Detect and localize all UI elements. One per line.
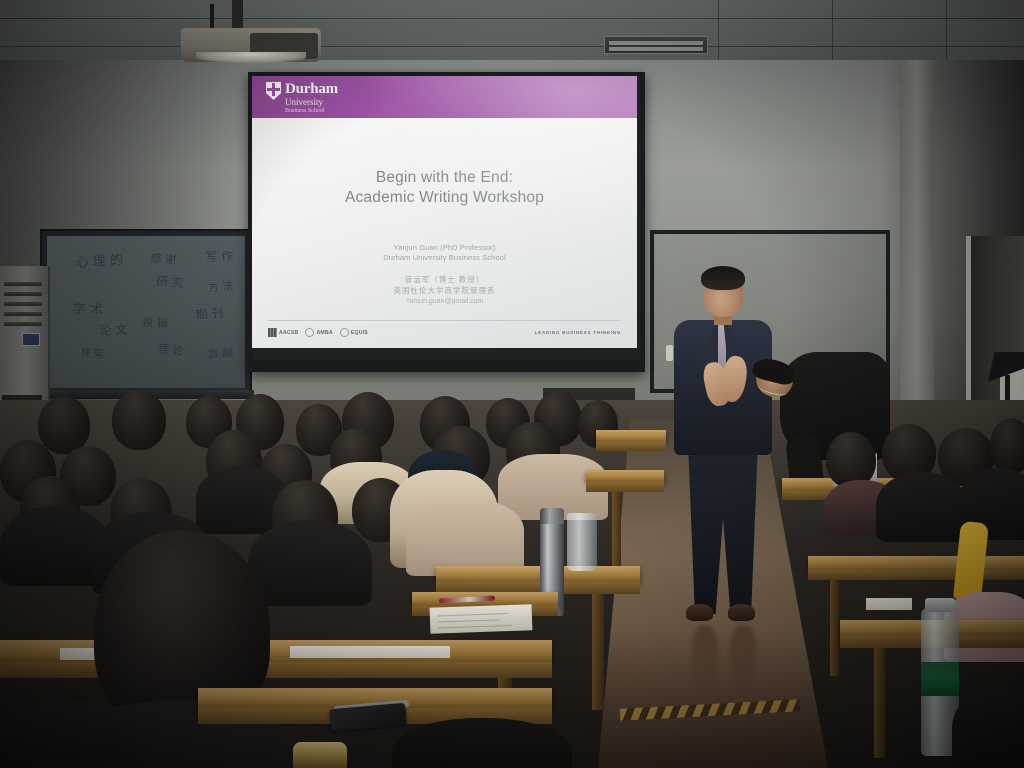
desk-row-right-mid xyxy=(808,556,1024,570)
recessed-fluorescent-light-icon xyxy=(604,36,708,54)
audience-coat-tan xyxy=(406,500,524,576)
whiteboard-surface: 心 理 的感 谢写 作研 究方 法学 术论 文投 稿期 刊理 论贡 献框 架 xyxy=(47,236,245,388)
desk-edge xyxy=(0,662,552,678)
presenter-name: Yanjun Guan (PhD Professor) xyxy=(252,243,637,253)
desk-papers xyxy=(290,646,450,658)
desk-leg xyxy=(592,594,604,710)
presentation-slide: Durham University Business School Begin … xyxy=(252,76,637,348)
audience-torso xyxy=(248,520,372,606)
whiteboard-handwriting: 论 文 xyxy=(99,321,128,339)
ceiling-tile-line xyxy=(0,18,1024,19)
desk-leg xyxy=(830,580,839,676)
ac-louvre xyxy=(4,312,42,316)
whiteboard-handwriting: 贡 献 xyxy=(207,344,234,362)
ac-louvre xyxy=(4,282,42,286)
accreditation-label: AACSB xyxy=(279,330,298,336)
audience-head xyxy=(38,396,90,454)
ac-control-panel[interactable] xyxy=(22,333,40,346)
whiteboard-handwriting: 心 理 的 xyxy=(75,249,123,271)
accreditation-amba: AMBA xyxy=(305,328,332,337)
presenter-affiliation-cn: 英国杜伦大学商学院管理系 xyxy=(252,285,637,296)
presenter-name-cn: 管运军（博士 教授） xyxy=(252,274,637,285)
lecture-hall-photo: 心 理 的感 谢写 作研 究方 法学 术论 文投 稿期 刊理 论贡 献框 架 D… xyxy=(0,0,1024,768)
open-notebook-icon xyxy=(430,604,533,634)
accreditation-logos: AACSB AMBA EQUIS xyxy=(268,328,368,337)
whiteboard-handwriting: 理 论 xyxy=(157,340,184,359)
glass-tumbler-icon xyxy=(567,513,597,571)
whiteboard-handwriting: 方 法 xyxy=(207,277,234,296)
slide-title-line1: Begin with the End: xyxy=(252,168,637,188)
slide-title: Begin with the End: Academic Writing Wor… xyxy=(252,168,637,208)
shoe-reflection xyxy=(692,625,718,687)
bottle-label xyxy=(921,662,959,696)
ac-louvre xyxy=(4,322,42,326)
aacsb-mark-icon xyxy=(268,328,277,337)
thermos-cap xyxy=(540,508,564,524)
slide-title-line2: Academic Writing Workshop xyxy=(252,188,637,208)
durham-logo-text: Durham University Business School xyxy=(285,82,338,114)
desk-small-right xyxy=(596,430,666,442)
shield-icon xyxy=(266,82,281,100)
whiteboard-handwriting: 投 稿 xyxy=(142,314,169,332)
audience-torso xyxy=(952,690,1024,768)
logo-line-durham: Durham xyxy=(285,82,338,97)
slide-footer: AACSB AMBA EQUIS LEADING BUSINESS THINKI… xyxy=(268,328,621,337)
shoe-reflection xyxy=(730,625,756,687)
presenter-hair xyxy=(701,266,745,290)
whiteboard-handwriting: 学 术 xyxy=(72,298,103,318)
projector-lens-icon xyxy=(196,52,306,63)
durham-logo: Durham University Business School xyxy=(266,82,338,114)
whiteboard-left: 心 理 的感 谢写 作研 究方 法学 术论 文投 稿期 刊理 论贡 献框 架 xyxy=(40,229,252,395)
desk-small-right-2 xyxy=(586,470,664,482)
projector-mount xyxy=(232,0,243,30)
logo-line-business-school: Business School xyxy=(285,108,338,114)
logo-line-university: University xyxy=(285,98,338,107)
presenter-email: Yanjun.guan@gmail.com xyxy=(252,298,637,305)
accreditation-aacsb: AACSB xyxy=(268,328,298,337)
brass-tumbler-icon xyxy=(293,742,347,768)
accreditation-label: AMBA xyxy=(316,330,332,336)
ac-louvre xyxy=(4,302,42,306)
slide-divider xyxy=(268,320,621,321)
presenter-shoe xyxy=(728,604,755,621)
whiteboard-handwriting: 研 究 xyxy=(156,272,185,291)
desk-row-center xyxy=(436,566,640,582)
notebook-line xyxy=(438,613,508,616)
slide-presenter-block: Yanjun Guan (PhD Professor) Durham Unive… xyxy=(252,243,637,263)
accreditation-label: EQUIS xyxy=(351,330,368,336)
desk-edge xyxy=(596,442,666,451)
slide-presenter-block-cn: 管运军（博士 教授） 英国杜伦大学商学院管理系 xyxy=(252,274,637,296)
bottle-cap xyxy=(925,598,955,612)
amba-mark-icon xyxy=(305,328,314,337)
audience-head xyxy=(990,418,1024,474)
whiteboard-handwriting: 期 刊 xyxy=(195,304,224,323)
accreditation-equis: EQUIS xyxy=(340,328,368,337)
whiteboard-clip xyxy=(666,345,673,361)
desk-papers xyxy=(866,598,912,610)
whiteboard-handwriting: 感 谢 xyxy=(150,250,176,267)
desk-edge xyxy=(808,570,1024,580)
whiteboard-handwriting: 框 架 xyxy=(80,344,104,360)
ceiling-tile-line xyxy=(0,46,1024,47)
slide-tagline: LEADING BUSINESS THINKING xyxy=(535,330,621,335)
wall-column xyxy=(900,60,934,430)
desk-leg xyxy=(874,648,885,758)
equis-mark-icon xyxy=(340,328,349,337)
audience-torso xyxy=(876,472,968,542)
desk-edge xyxy=(586,482,664,492)
ac-louvre xyxy=(4,292,42,296)
whiteboard-handwriting: 写 作 xyxy=(205,247,233,265)
audience-head xyxy=(112,390,166,450)
notebook-line xyxy=(438,619,500,622)
presenter-affiliation: Durham University Business School xyxy=(252,253,637,263)
presenter-shoe xyxy=(686,604,713,621)
notebook-line xyxy=(438,625,512,629)
